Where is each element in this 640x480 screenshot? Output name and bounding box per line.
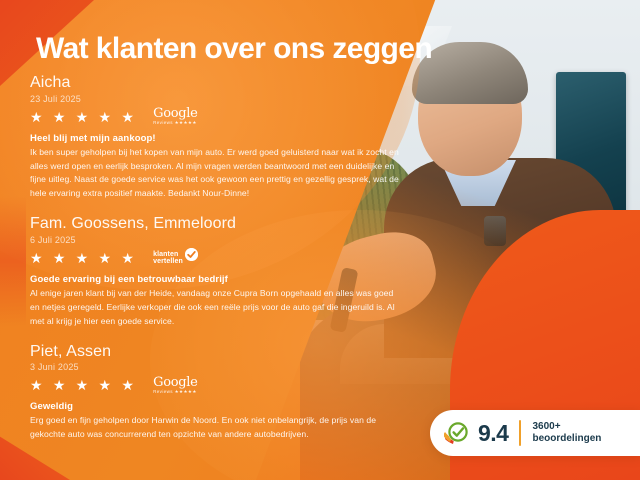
star-rating-icon: ★ ★ ★ ★ ★ (30, 251, 137, 265)
reviews-list: Aicha 23 Juli 2025 ★ ★ ★ ★ ★ Google Revi… (30, 74, 400, 456)
klantenvertellen-line-2: vertellen (153, 258, 183, 265)
score-badge: 9.4 3600+ beoordelingen (430, 410, 640, 456)
score-label: beoordelingen (532, 433, 601, 446)
review-item: Fam. Goossens, Emmeloord 6 Juli 2025 ★ ★… (30, 215, 400, 328)
google-logo-text: Google (153, 376, 197, 389)
page-title: Wat klanten over ons zeggen (36, 32, 432, 66)
klantenvertellen-logo: klanten vertellen (153, 248, 198, 267)
review-date: 3 Juni 2025 (30, 362, 400, 372)
score-count-label: 3600+ beoordelingen (532, 421, 601, 446)
review-date: 23 Juli 2025 (30, 94, 400, 104)
google-logo: Google Reviews ★★★★★ (153, 376, 197, 395)
google-logo-text: Google (153, 107, 197, 120)
reviewer-name: Aicha (30, 74, 400, 92)
google-reviews-stars-icon: Reviews ★★★★★ (153, 390, 197, 395)
score-count: 3600+ (532, 421, 601, 434)
review-title: Heel blij met mijn aankoop! (30, 133, 400, 144)
review-meta: ★ ★ ★ ★ ★ Google Reviews ★★★★★ (30, 108, 400, 126)
banner-content: Wat klanten over ons zeggen Aicha 23 Jul… (0, 0, 640, 480)
review-date: 6 Juli 2025 (30, 235, 400, 245)
customer-reviews-banner: VDH Wat klanten over ons zeggen Aicha 23… (0, 0, 640, 480)
klantenvertellen-line-1: klanten (153, 251, 183, 258)
review-body: Erg goed en fijn geholpen door Harwin de… (30, 414, 400, 442)
review-title: Goede ervaring bij een betrouwbaar bedri… (30, 274, 400, 285)
star-rating-icon: ★ ★ ★ ★ ★ (30, 378, 137, 392)
review-title: Geweldig (30, 401, 400, 412)
review-body: Ik ben super geholpen bij het kopen van … (30, 146, 400, 202)
klantenvertellen-logo-text: klanten vertellen (153, 251, 183, 266)
review-item: Aicha 23 Juli 2025 ★ ★ ★ ★ ★ Google Revi… (30, 74, 400, 201)
score-divider (519, 420, 521, 446)
google-reviews-stars-icon: Reviews ★★★★★ (153, 121, 197, 126)
score-value: 9.4 (478, 422, 508, 445)
klantenvertellen-seal-icon (444, 420, 470, 446)
google-logo: Google Reviews ★★★★★ (153, 107, 197, 126)
review-meta: ★ ★ ★ ★ ★ Google Reviews ★★★★★ (30, 376, 400, 394)
review-body: Al enige jaren klant bij van der Heide, … (30, 287, 400, 329)
checkmark-circle-icon (185, 248, 198, 261)
review-meta: ★ ★ ★ ★ ★ klanten vertellen (30, 249, 400, 267)
reviewer-name: Piet, Assen (30, 343, 400, 361)
review-item: Piet, Assen 3 Juni 2025 ★ ★ ★ ★ ★ Google… (30, 343, 400, 442)
reviewer-name: Fam. Goossens, Emmeloord (30, 215, 400, 233)
star-rating-icon: ★ ★ ★ ★ ★ (30, 110, 137, 124)
